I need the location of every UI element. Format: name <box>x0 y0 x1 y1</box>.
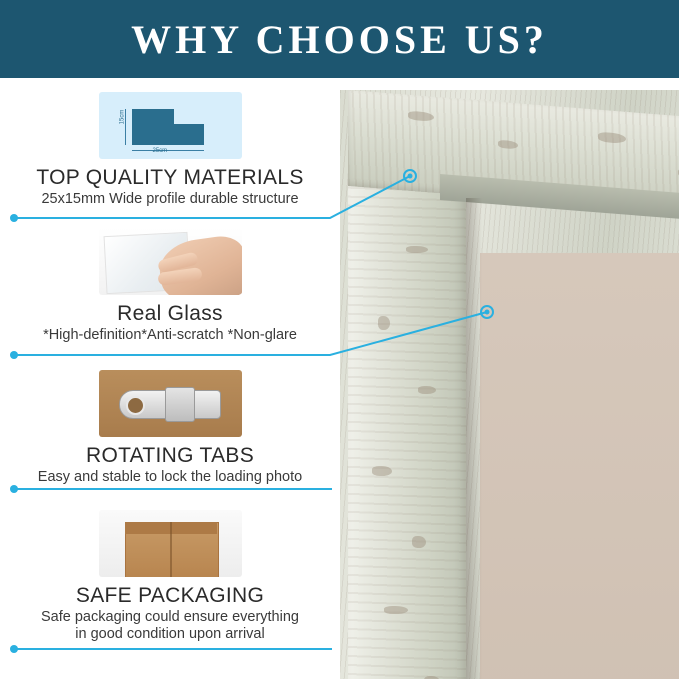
header-banner: WHY CHOOSE US? <box>0 0 679 78</box>
glass-sheet-hand-thumbnail <box>99 228 242 295</box>
rotating-tab-screw-hole <box>126 396 145 415</box>
feature-title: Real Glass <box>0 302 340 326</box>
feature-real-glass: Real Glass *High-definition*Anti-scratch… <box>0 228 340 344</box>
frame-mat-board <box>480 253 679 679</box>
feature-safe-packaging: SAFE PACKAGING Safe packaging could ensu… <box>0 510 340 643</box>
cardboard-box-seam <box>170 522 172 577</box>
rotating-tab-grip <box>165 387 195 422</box>
infographic-page: WHY CHOOSE US? 15 <box>0 0 679 679</box>
feature-subtitle: Easy and stable to lock the loading phot… <box>0 469 340 486</box>
feature-subtitle: *High-definition*Anti-scratch *Non-glare <box>0 327 340 344</box>
feature-top-quality-materials: 15cm 25cm TOP QUALITY MATERIALS 25x15mm … <box>0 92 340 208</box>
rotating-tab-thumbnail <box>99 370 242 437</box>
frame-inner-shadow <box>466 198 482 679</box>
product-photo <box>330 78 679 679</box>
feature-title: TOP QUALITY MATERIALS <box>0 166 340 190</box>
feature-title: SAFE PACKAGING <box>0 584 340 608</box>
frame-left-rail <box>348 136 466 679</box>
feature-rotating-tabs: ROTATING TABS Easy and stable to lock th… <box>0 370 340 486</box>
profile-diagram-thumbnail: 15cm 25cm <box>99 92 242 159</box>
feature-title: ROTATING TABS <box>0 444 340 468</box>
feature-subtitle-line1: Safe packaging could ensure everything <box>0 609 340 626</box>
page-title: WHY CHOOSE US? <box>0 0 679 78</box>
feature-subtitle: Safe packaging could ensure everything i… <box>0 609 340 643</box>
dimension-label-height: 15cm <box>119 110 125 125</box>
feature-subtitle: 25x15mm Wide profile durable structure <box>0 191 340 208</box>
feature-subtitle-line2: in good condition upon arrival <box>0 626 340 643</box>
packaging-box-thumbnail <box>99 510 242 577</box>
dimension-line-horizontal <box>132 150 204 151</box>
dimension-label-width: 25cm <box>153 148 168 154</box>
profile-notch <box>174 109 204 124</box>
